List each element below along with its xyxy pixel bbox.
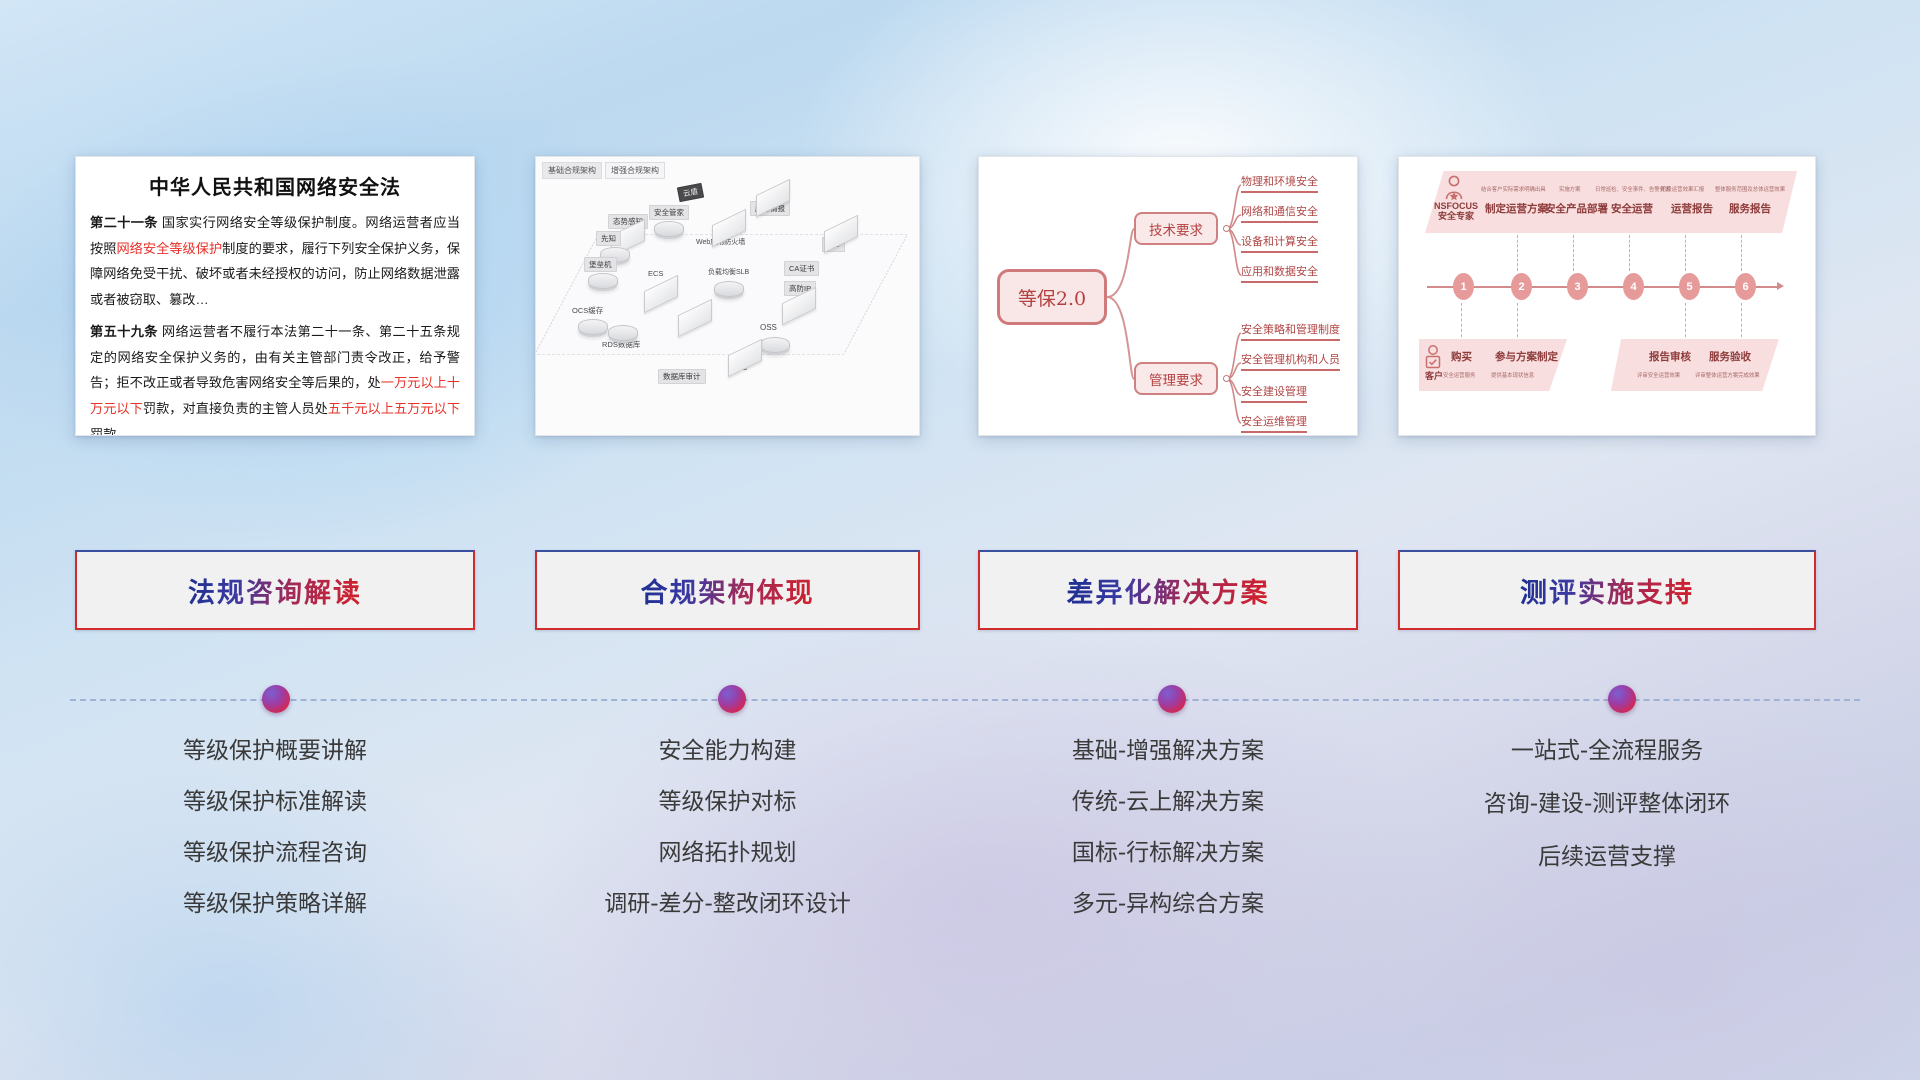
law-title: 中华人民共和国网络安全法 bbox=[76, 157, 474, 210]
mindmap-branch-technical[interactable]: 技术要求 bbox=[1134, 212, 1218, 245]
iso-cyl-rds bbox=[608, 325, 638, 341]
headline-title-1: 法规咨询解读 bbox=[188, 571, 362, 610]
architecture-diagram: 基础合规架构 增强合规架构 云盾 态势感知 先知 安全管家 威胁情报 堡垒机 抗… bbox=[536, 157, 919, 435]
detail-column-3: 基础-增强解决方案 传统-云上解决方案 国标-行标解决方案 多元-异构综合方案 bbox=[978, 740, 1358, 944]
roadmap-step-2-sub: 结合客户实际需求明确出具 bbox=[1481, 185, 1546, 193]
preview-cards-row: 中华人民共和国网络安全法 第二十一条 国家实行网络安全等级保护制度。网络运营者应… bbox=[0, 0, 1920, 440]
roadmap-tick-5-down bbox=[1685, 303, 1686, 337]
node-label-security-butler: 安全管家 bbox=[649, 205, 689, 220]
card-dengbao-mindmap[interactable]: 等保2.0 技术要求 管理要求 物理和环境安全 网络和通信安全 设备和计算安全 … bbox=[978, 156, 1358, 436]
mindmap-collapse-dot-technical[interactable] bbox=[1223, 225, 1230, 232]
list-item: 国标-行标解决方案 bbox=[978, 842, 1358, 865]
roadmap-tick-2-down bbox=[1517, 303, 1518, 337]
roadmap-customer-band-right bbox=[1611, 339, 1779, 391]
iso-cyl-bastion bbox=[588, 273, 618, 289]
headline-title-3: 差异化解决方案 bbox=[1067, 571, 1270, 610]
list-item: 多元-异构综合方案 bbox=[978, 893, 1358, 916]
mindmap-leaf-app-data[interactable]: 应用和数据安全 bbox=[1241, 263, 1318, 283]
list-item: 网络拓扑规划 bbox=[535, 842, 920, 865]
roadmap-step-5-sub: 阶段运营效果汇报 bbox=[1661, 185, 1704, 193]
list-item: 等级保护策略详解 bbox=[75, 893, 475, 916]
node-label-slb: 负载均衡SLB bbox=[708, 267, 749, 277]
roadmap-step-4-title: 安全运营 bbox=[1611, 201, 1653, 216]
roadmap-tick-3 bbox=[1573, 235, 1574, 271]
node-label-bastion: 堡垒机 bbox=[584, 257, 617, 272]
detail-column-2: 安全能力构建 等级保护对标 网络拓扑规划 调研-差分-整改闭环设计 bbox=[535, 740, 920, 944]
node-label-oss: OSS bbox=[760, 323, 777, 332]
roadmap-customer-3-title: 报告审核 bbox=[1649, 349, 1691, 364]
architecture-canvas: 云盾 态势感知 先知 安全管家 威胁情报 堡垒机 抗D Web应用防火墙 负载均… bbox=[536, 157, 919, 435]
timeline bbox=[70, 698, 1860, 702]
mindmap-leaf-network-comm[interactable]: 网络和通信安全 bbox=[1241, 203, 1318, 223]
mindmap-leaf-physical-env[interactable]: 物理和环境安全 bbox=[1241, 173, 1318, 193]
headline-box-differentiated-solution[interactable]: 差异化解决方案 bbox=[978, 550, 1358, 630]
list-item: 一站式-全流程服务 bbox=[1398, 740, 1816, 763]
roadmap-customer-4-title: 服务验收 bbox=[1709, 349, 1751, 364]
roadmap-customer-2-sub: 提供基本现状信息 bbox=[1491, 371, 1534, 379]
detail-column-1: 等级保护概要讲解 等级保护标准解读 等级保护流程咨询 等级保护策略详解 bbox=[75, 740, 475, 944]
law-body: 第二十一条 国家实行网络安全等级保护制度。网络运营者应当按照网络安全等级保护制度… bbox=[76, 210, 474, 436]
mindmap-leaf-device-compute[interactable]: 设备和计算安全 bbox=[1241, 233, 1318, 253]
mindmap-leaf-construction-mgmt[interactable]: 安全建设管理 bbox=[1241, 383, 1307, 403]
article-59-text-c: 罚款。 bbox=[90, 427, 130, 436]
timeline-dot-4[interactable] bbox=[1608, 685, 1636, 713]
node-label-xianzhi: 先知 bbox=[596, 231, 621, 246]
article-59-label: 第五十九条 bbox=[90, 324, 158, 339]
roadmap-customer-2-title: 参与方案制定 bbox=[1495, 349, 1558, 364]
list-item: 传统-云上解决方案 bbox=[978, 791, 1358, 814]
roadmap-step-2-title: 制定运营方案 bbox=[1485, 201, 1548, 216]
timeline-dot-3[interactable] bbox=[1158, 685, 1186, 713]
iso-cyl-oss bbox=[760, 337, 790, 353]
node-label-ocs-cache: OCS缓存 bbox=[572, 305, 603, 316]
roadmap-tick-5 bbox=[1685, 235, 1686, 271]
mindmap-leaf-ops-mgmt[interactable]: 安全运维管理 bbox=[1241, 413, 1307, 433]
roadmap-step-4-sub: 日常巡检、安全事件、告警处置 bbox=[1595, 185, 1670, 193]
list-item: 安全能力构建 bbox=[535, 740, 920, 763]
roadmap-diagram: NSFOCUS 安全专家 客户 制定运营方案 结合客户实际需求明确出具 安全产品… bbox=[1399, 157, 1815, 435]
expert-role-label: NSFOCUS 安全专家 bbox=[1427, 201, 1485, 222]
roadmap-step-5-title: 运营报告 bbox=[1671, 201, 1713, 216]
node-label-ca-cert: CA证书 bbox=[784, 261, 819, 276]
mindmap-collapse-dot-management[interactable] bbox=[1223, 375, 1230, 382]
list-item: 等级保护对标 bbox=[535, 791, 920, 814]
roadmap-node-5[interactable]: 5 bbox=[1679, 273, 1700, 300]
roadmap-tick-4 bbox=[1629, 235, 1630, 271]
expert-role-line1: NSFOCUS bbox=[1427, 201, 1485, 211]
roadmap-axis-arrow bbox=[1777, 282, 1784, 290]
list-item: 等级保护标准解读 bbox=[75, 791, 475, 814]
mindmap: 等保2.0 技术要求 管理要求 物理和环境安全 网络和通信安全 设备和计算安全 … bbox=[979, 157, 1357, 435]
roadmap-node-2[interactable]: 2 bbox=[1511, 273, 1532, 300]
card-service-roadmap[interactable]: NSFOCUS 安全专家 客户 制定运营方案 结合客户实际需求明确出具 安全产品… bbox=[1398, 156, 1816, 436]
roadmap-step-6-sub: 整体服务范围及总体运营效果 bbox=[1715, 185, 1785, 193]
node-label-db-audit: 数据库审计 bbox=[658, 369, 706, 384]
roadmap-step-3-title: 安全产品部署 bbox=[1545, 201, 1608, 216]
node-label-cloud-shield: 云盾 bbox=[677, 183, 704, 202]
card-compliance-architecture[interactable]: 基础合规架构 增强合规架构 云盾 态势感知 先知 安全管家 威胁情报 堡垒机 抗… bbox=[535, 156, 920, 436]
roadmap-node-4[interactable]: 4 bbox=[1623, 273, 1644, 300]
law-article-59: 第五十九条 网络运营者不履行本法第二十一条、第二十五条规定的网络安全保护义务的，… bbox=[90, 319, 460, 436]
list-item: 咨询-建设-测评整体闭环 bbox=[1398, 793, 1816, 816]
roadmap-customer-1-sub: 安全运营服务 bbox=[1443, 371, 1475, 379]
headline-title-2: 合规架构体现 bbox=[641, 571, 815, 610]
roadmap-customer-4-sub: 评审整体运营方案完成效果 bbox=[1695, 371, 1760, 379]
expert-person-icon bbox=[1443, 175, 1465, 201]
detail-column-4: 一站式-全流程服务 咨询-建设-测评整体闭环 后续运营支撑 bbox=[1398, 740, 1816, 899]
roadmap-tick-2 bbox=[1517, 235, 1518, 271]
card-cybersecurity-law[interactable]: 中华人民共和国网络安全法 第二十一条 国家实行网络安全等级保护制度。网络运营者应… bbox=[75, 156, 475, 436]
headline-box-compliance-architecture[interactable]: 合规架构体现 bbox=[535, 550, 920, 630]
expert-role-line2: 安全专家 bbox=[1427, 211, 1485, 221]
roadmap-node-6[interactable]: 6 bbox=[1735, 273, 1756, 300]
node-label-ecs: ECS bbox=[648, 269, 663, 278]
roadmap-customer-1-title: 购买 bbox=[1451, 349, 1472, 364]
timeline-dot-2[interactable] bbox=[718, 685, 746, 713]
roadmap-tick-6 bbox=[1741, 235, 1742, 271]
list-item: 等级保护概要讲解 bbox=[75, 740, 475, 763]
list-item: 基础-增强解决方案 bbox=[978, 740, 1358, 763]
roadmap-tick-1-down bbox=[1461, 303, 1462, 337]
list-item: 等级保护流程咨询 bbox=[75, 842, 475, 865]
roadmap-axis-line bbox=[1427, 286, 1779, 288]
headline-box-assessment-support[interactable]: 测评实施支持 bbox=[1398, 550, 1816, 630]
roadmap-node-3[interactable]: 3 bbox=[1567, 273, 1588, 300]
roadmap-customer-3-sub: 评审安全运营效果 bbox=[1637, 371, 1680, 379]
mindmap-branch-management[interactable]: 管理要求 bbox=[1134, 362, 1218, 395]
article-21-label: 第二十一条 bbox=[90, 215, 158, 230]
list-item: 调研-差分-整改闭环设计 bbox=[535, 893, 920, 916]
article-21-highlight: 网络安全等级保护 bbox=[116, 241, 222, 256]
timeline-dot-1[interactable] bbox=[262, 685, 290, 713]
mindmap-root-node[interactable]: 等保2.0 bbox=[997, 269, 1107, 325]
roadmap-step-3-sub: 实施方案 bbox=[1559, 185, 1581, 193]
mindmap-leaf-org-personnel[interactable]: 安全管理机构和人员 bbox=[1241, 351, 1340, 371]
mindmap-leaf-policy-system[interactable]: 安全策略和管理制度 bbox=[1241, 321, 1340, 341]
iso-cyl-security-butler bbox=[654, 221, 684, 237]
article-59-text-b: 罚款，对直接负责的主管人员处 bbox=[143, 401, 328, 416]
law-article-21: 第二十一条 国家实行网络安全等级保护制度。网络运营者应当按照网络安全等级保护制度… bbox=[90, 210, 460, 313]
iso-cyl-slb bbox=[714, 281, 744, 297]
iso-cyl-ocs-cache bbox=[578, 319, 608, 335]
headline-box-regulation-consulting[interactable]: 法规咨询解读 bbox=[75, 550, 475, 630]
article-59-highlight-b: 五千元以上五万元以下 bbox=[328, 401, 460, 416]
timeline-dashed-line bbox=[70, 699, 1860, 701]
customer-person-icon bbox=[1423, 345, 1443, 371]
list-item: 后续运营支撑 bbox=[1398, 846, 1816, 869]
headline-title-4: 测评实施支持 bbox=[1520, 571, 1694, 610]
roadmap-tick-6-down bbox=[1741, 303, 1742, 337]
roadmap-step-6-title: 服务报告 bbox=[1729, 201, 1771, 216]
roadmap-node-1[interactable]: 1 bbox=[1453, 273, 1474, 300]
